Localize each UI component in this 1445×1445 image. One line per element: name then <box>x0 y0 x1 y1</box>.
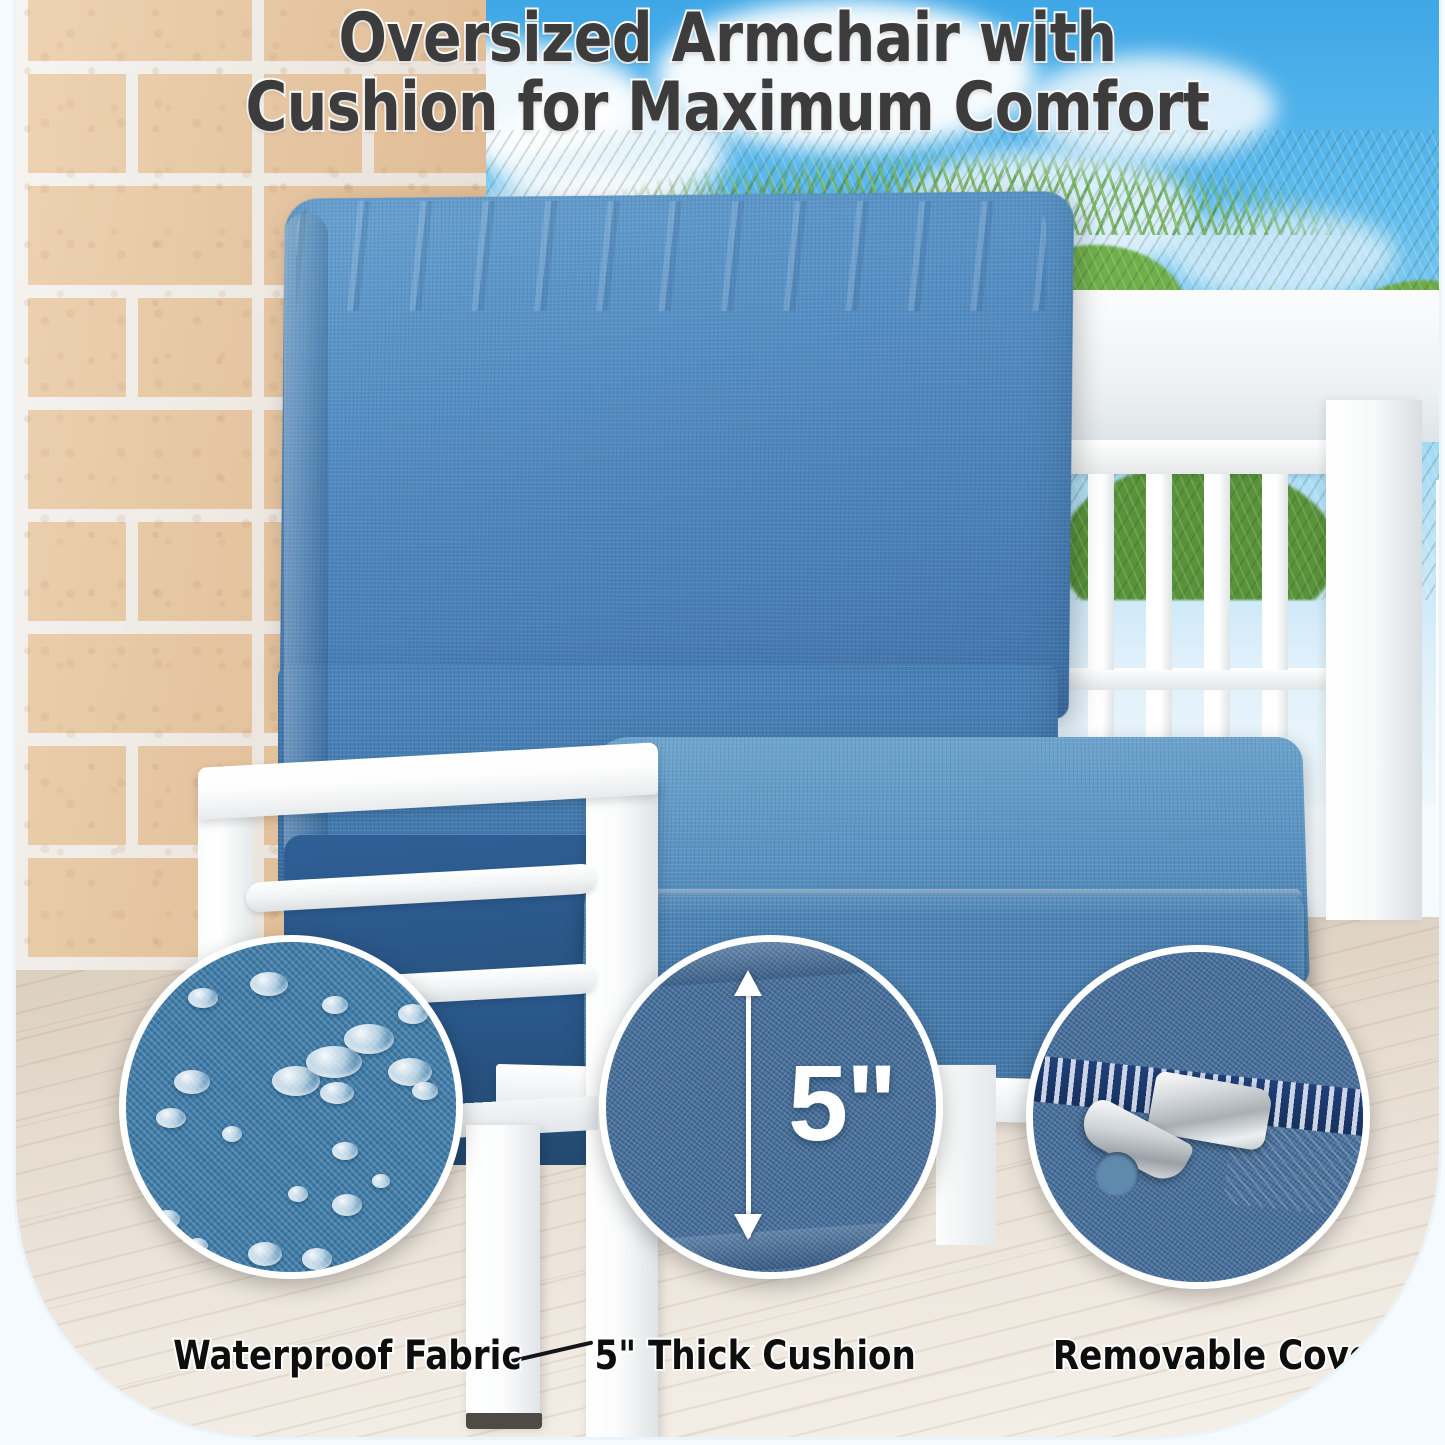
water-droplets-icon <box>332 1142 358 1160</box>
feature-caption-waterproof: Waterproof Fabric <box>173 1333 521 1379</box>
page-title: Oversized Armchair with Cushion for Maxi… <box>66 4 1389 143</box>
chair-front-leg <box>466 1125 540 1425</box>
water-droplets-icon <box>250 972 288 996</box>
water-droplets-icon <box>174 1070 210 1094</box>
arm-slat <box>246 863 596 913</box>
water-droplets-icon <box>156 1210 180 1228</box>
water-droplets-icon <box>372 1174 390 1188</box>
railing-far-baluster <box>1436 480 1439 900</box>
water-droplets-icon <box>412 1082 438 1100</box>
water-droplets-icon <box>188 988 218 1008</box>
cushion-quilting <box>296 201 1046 311</box>
feature-circle-waterproof <box>119 935 463 1279</box>
dimension-arrow-icon <box>734 1214 762 1240</box>
water-droplets-icon <box>156 1108 186 1128</box>
water-droplets-icon <box>188 1238 208 1253</box>
feature-circle-thickness: 5" <box>599 935 943 1279</box>
water-droplets-icon <box>248 1242 282 1266</box>
feature-caption-removable: Removable Cover <box>1053 1333 1389 1379</box>
water-droplets-icon <box>222 1126 242 1142</box>
product-infographic: Oversized Armchair with Cushion for Maxi… <box>0 0 1445 1445</box>
headline-line-1: Oversized Armchair with <box>66 4 1389 73</box>
water-droplets-icon <box>320 1082 354 1104</box>
dimension-arrow-icon <box>734 970 762 996</box>
water-droplets-icon <box>398 1004 428 1024</box>
water-droplets-icon <box>272 1066 320 1096</box>
chair-foot-pad <box>466 1413 542 1429</box>
water-droplets-icon <box>302 1248 332 1270</box>
water-droplets-icon <box>332 1194 362 1216</box>
feature-circle-removable-cover <box>1026 945 1370 1289</box>
water-droplets-icon <box>288 1186 308 1202</box>
chair-back-leg <box>936 1065 996 1245</box>
water-droplets-icon <box>322 996 348 1014</box>
product-photo: Oversized Armchair with Cushion for Maxi… <box>16 0 1439 1437</box>
thickness-value: 5" <box>788 1040 895 1165</box>
headline-line-2: Cushion for Maximum Comfort <box>66 73 1389 142</box>
dimension-arrow-icon <box>746 988 751 1238</box>
feature-caption-thickness: 5" Thick Cushion <box>594 1333 915 1379</box>
